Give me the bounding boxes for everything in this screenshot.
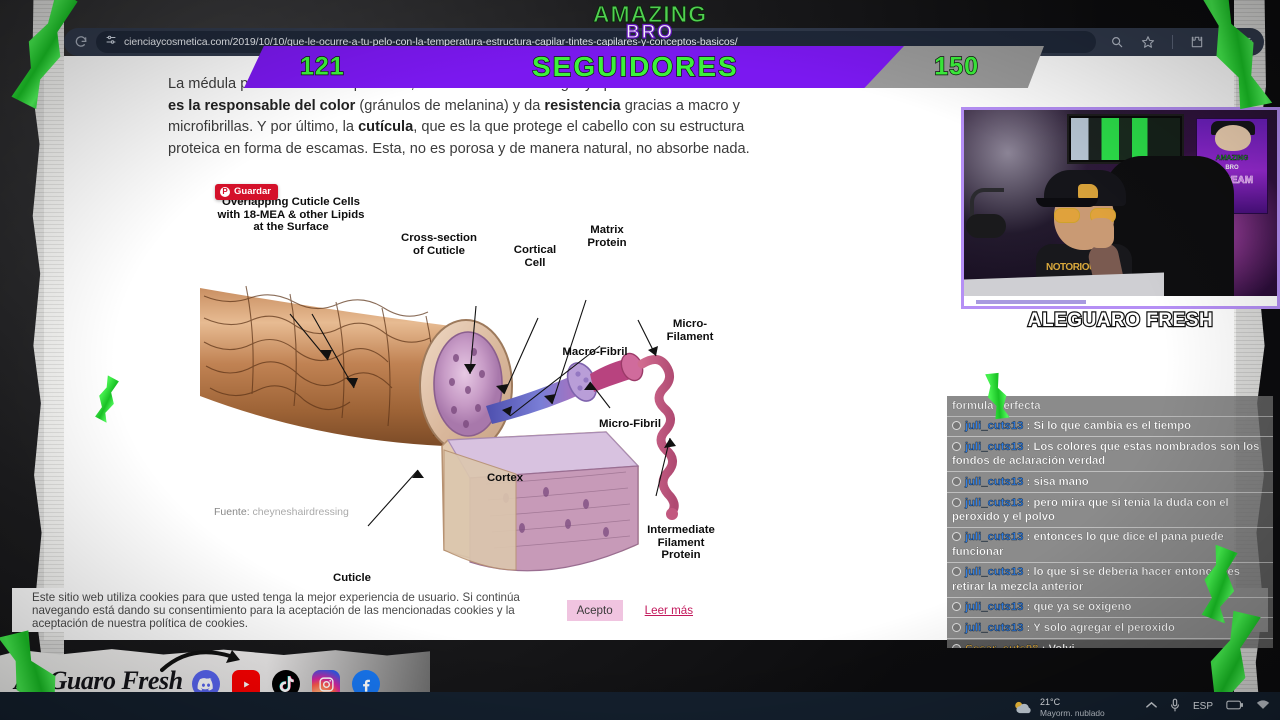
chat-message-text: Y solo agregar el peroxido	[1033, 622, 1175, 634]
follower-banner-label: SEGUIDORES	[532, 51, 739, 83]
diagram-label-overlapping-cuticle-cells: Overlapping Cuticle Cells with 18-MEA & …	[196, 196, 386, 234]
diagram-label-micro-filament: Micro- Filament	[648, 318, 732, 343]
chat-username[interactable]: juli_cuts13	[965, 497, 1023, 509]
streamer-name-overlay: ALEGUARO FRESH	[961, 310, 1280, 332]
chat-panel[interactable]: formula perfectajuli_cuts13 : Si lo que …	[947, 396, 1273, 648]
chat-separator: :	[1023, 476, 1033, 488]
diagram-label-cortex: Cortex	[466, 472, 544, 485]
zoom-icon[interactable]	[1110, 35, 1124, 49]
chat-message-text: sisa mano	[1033, 476, 1088, 488]
network-icon[interactable]	[1256, 699, 1270, 713]
show-hidden-icons-chevron-icon[interactable]	[1146, 701, 1157, 712]
battery-icon[interactable]	[1226, 700, 1243, 713]
chat-message: juli_cuts13 : sisa mano	[947, 472, 1273, 493]
chat-separator: :	[1023, 497, 1033, 509]
toolbar-divider	[1172, 35, 1173, 49]
diagram-label-cortical-cell: Cortical Cell	[496, 244, 574, 269]
chat-username[interactable]: juli_cuts13	[965, 622, 1023, 634]
chat-message: juli_cuts13 : pero mira que si tenía la …	[947, 493, 1273, 528]
pinterest-save-label: Guardar	[234, 186, 271, 197]
chat-separator: :	[1023, 566, 1033, 578]
diagram-label-cross-section-of-cuticle: Cross-section of Cuticle	[384, 232, 494, 257]
webcam-feed: AMAZINGBROSTREAM NOTORIOUS	[964, 110, 1277, 306]
chat-separator: :	[1023, 441, 1033, 453]
webcam-lower-bar	[964, 296, 1277, 306]
diagram-label-cuticle: Cuticle	[310, 572, 394, 585]
p1-mid: (gránulos de melanina) y da	[355, 98, 544, 114]
site-settings-icon[interactable]	[105, 33, 117, 51]
chat-username[interactable]: Cesar_cuts98	[965, 643, 1038, 648]
chat-user-badge-icon	[952, 442, 961, 451]
extensions-puzzle-icon[interactable]	[1190, 35, 1204, 49]
figure-caption-label: Fuente:	[214, 506, 253, 518]
chat-user-badge-icon	[952, 567, 961, 576]
chat-user-badge-icon	[952, 532, 961, 541]
reload-icon[interactable]	[74, 35, 88, 49]
diagram-label-matrix-protein: Matrix Protein	[568, 224, 646, 249]
p1-bold-2: resistencia	[544, 98, 620, 114]
figure-caption: Fuente: cheyneshairdressing	[214, 506, 349, 518]
figure-caption-source[interactable]: cheyneshairdressing	[253, 506, 349, 518]
chat-separator: :	[1023, 622, 1033, 634]
pinterest-save-button[interactable]: P Guardar	[215, 184, 278, 200]
keyboard-layout-indicator[interactable]: ESP	[1193, 701, 1213, 712]
follower-goal-banner: 121 SEGUIDORES 150	[244, 46, 1044, 88]
webcam-frame: AMAZINGBROSTREAM NOTORIOUS	[961, 107, 1280, 309]
diagram-label-intermediate-filament-protein: Intermediate Filament Protein	[628, 524, 734, 562]
follower-current-count: 121	[300, 53, 345, 82]
chat-user-badge-icon	[952, 623, 961, 632]
taskbar-weather-widget[interactable]: 21°C Mayorm. nublado	[1012, 697, 1105, 719]
follower-goal-count: 150	[934, 53, 979, 82]
weather-cloud-sun-icon	[1012, 699, 1034, 717]
diagram-label-micro-fibril: Micro-Fibril	[578, 418, 682, 431]
cookie-readmore-link[interactable]: Leer más	[645, 604, 693, 617]
p1-bold-3: cutícula	[358, 119, 413, 135]
chat-username[interactable]: juli_cuts13	[965, 531, 1023, 543]
chat-user-badge-icon	[952, 602, 961, 611]
chat-user-badge-icon	[952, 477, 961, 486]
chat-username[interactable]: juli_cuts13	[965, 566, 1023, 578]
windows-taskbar: 21°C Mayorm. nublado ESP	[0, 692, 1280, 720]
chat-separator: :	[1038, 643, 1048, 648]
chat-user-badge-icon	[952, 498, 961, 507]
chat-separator: :	[1023, 601, 1033, 613]
chat-message: juli_cuts13 : Los colores que estas nomb…	[947, 437, 1273, 472]
chat-username[interactable]: juli_cuts13	[965, 476, 1023, 488]
cookie-accept-button[interactable]: Acepto	[567, 600, 623, 621]
hair-structure-figure: P Guardar Overlapping Cuticle Cells with…	[186, 178, 786, 598]
weather-temperature: 21°C	[1040, 697, 1105, 708]
chat-user-badge-icon	[952, 421, 961, 430]
chat-message-text: Si lo que cambia es el tiempo	[1033, 420, 1191, 432]
chat-username[interactable]: juli_cuts13	[965, 601, 1023, 613]
screen-capture: cienciaycosmetica.com/2019/10/10/que-le-…	[0, 0, 1280, 720]
chat-message: juli_cuts13 : Si lo que cambia es el tie…	[947, 417, 1273, 438]
chat-message-text: que ya se oxigeno	[1033, 601, 1131, 613]
cookie-banner-text: Este sitio web utiliza cookies para que …	[32, 591, 567, 630]
pinterest-icon: P	[220, 187, 230, 197]
chat-message-text: Volvi	[1049, 643, 1075, 648]
microphone	[966, 214, 1006, 238]
chat-user-badge-icon	[952, 644, 961, 648]
article-content: La médula puede estar o no presente, en …	[140, 60, 840, 630]
microphone-icon[interactable]	[1170, 698, 1180, 715]
taskbar-tray: ESP	[1146, 698, 1270, 715]
chat-username[interactable]: juli_cuts13	[965, 441, 1023, 453]
chat-message: Cesar_cuts98 : Volvi	[947, 639, 1273, 648]
chat-username[interactable]: juli_cuts13	[965, 420, 1023, 432]
weather-condition: Mayorm. nublado	[1040, 708, 1105, 719]
chat-separator: :	[1023, 420, 1033, 432]
bookmark-star-icon[interactable]	[1141, 35, 1155, 49]
chat-separator: :	[1023, 531, 1033, 543]
diagram-label-macro-fibril: Macro-Fibril	[540, 346, 650, 359]
